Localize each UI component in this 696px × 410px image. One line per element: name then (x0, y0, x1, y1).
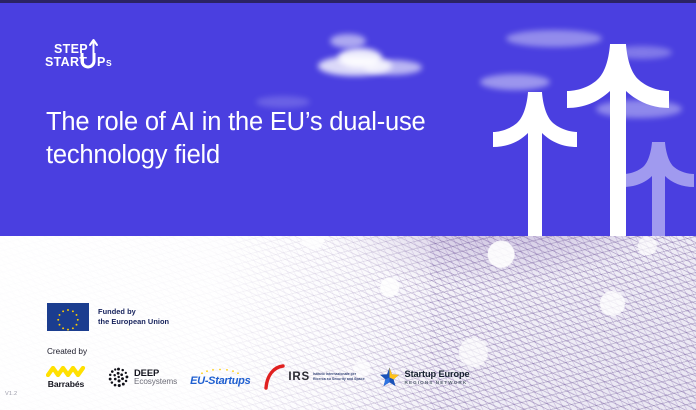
partner-logo-startup-europe[interactable]: Startup Europe REGIONS NETWORK (378, 361, 470, 393)
partner-name-startup-europe: Startup Europe (405, 369, 470, 379)
dotted-circle-icon (107, 366, 130, 389)
partner-subtitle-regions-network: REGIONS NETWORK (405, 380, 470, 385)
partner-name-ecosystems: Ecosystems (134, 378, 177, 386)
logo-letter-p: P (97, 55, 105, 69)
presentation-slide: STEP START P S The role of AI in the EU’… (0, 0, 696, 410)
version-label: V1.2 (5, 391, 17, 397)
partner-name-barrabes: Barrabés (48, 379, 84, 389)
arrow-short-icon (623, 142, 694, 236)
partner-logo-deep-ecosystems[interactable]: DEEP Ecosystems (107, 361, 177, 393)
cloud-shape (364, 60, 422, 75)
partner-logo-barrabes[interactable]: Barrabés (38, 361, 94, 393)
eu-funding-block: Funded by the European Union (47, 303, 169, 331)
red-arc-icon (263, 364, 285, 390)
step-startups-logo[interactable]: STEP START P S (45, 38, 155, 78)
zigzag-mark-icon (46, 366, 86, 377)
star-icon (378, 366, 401, 389)
partner-logo-eu-startups[interactable]: EU-Startups (190, 361, 250, 393)
page-title: The role of AI in the EU’s dual-use tech… (46, 106, 466, 171)
partner-name-irs: IRS (288, 371, 310, 383)
european-union-flag-icon (47, 303, 89, 331)
top-divider (0, 0, 696, 3)
arrow-medium-icon (493, 92, 577, 236)
eu-stars-arc-icon (195, 368, 245, 375)
partner-logo-irs[interactable]: IRS Istituto Internazionale per Ricerca … (263, 361, 364, 393)
cloud-shape (330, 34, 366, 48)
rising-arrows-graphic (466, 0, 696, 236)
eu-funding-text: Funded by the European Union (98, 307, 169, 327)
partner-subtitle-irs: Istituto Internazionale per Ricerca su S… (313, 372, 365, 381)
partner-logos-row: Barrabés (38, 360, 470, 394)
logo-letter-s: S (106, 58, 112, 68)
created-by-label: Created by (47, 347, 87, 356)
partner-name-eu-startups: EU-Startups (190, 375, 250, 387)
